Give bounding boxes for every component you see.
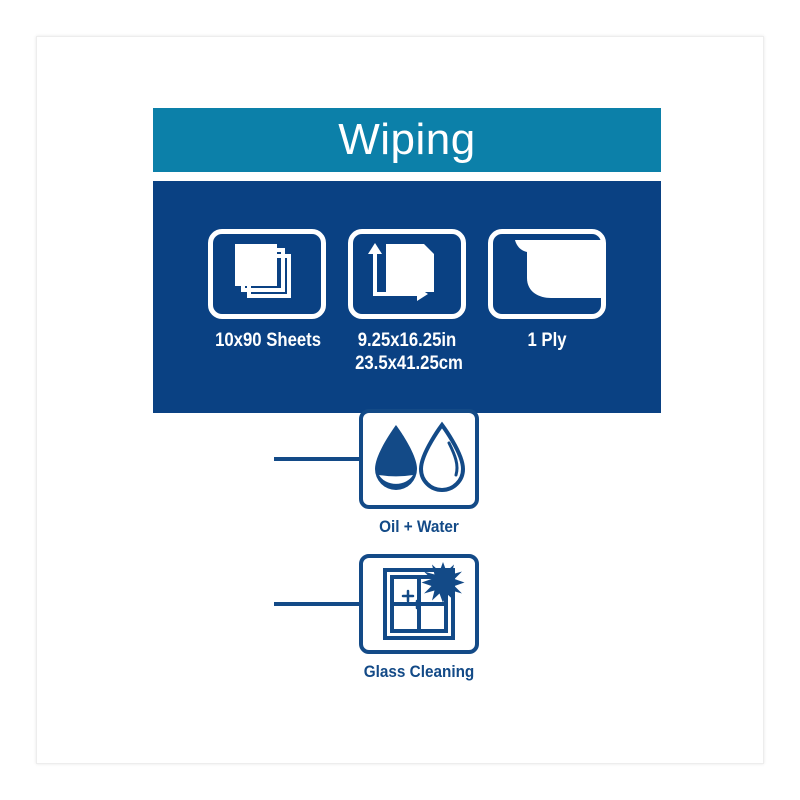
spec-icon-row bbox=[153, 229, 661, 321]
category-title-band: Wiping bbox=[153, 108, 661, 172]
connector-line-oil-water bbox=[274, 457, 364, 461]
page-title: Wiping bbox=[338, 118, 476, 162]
specification-panel: 10x90 Sheets 9.25x16.25in 23.5x41.25cm 1… bbox=[153, 181, 661, 413]
spec-icon-box-dimensions bbox=[348, 229, 466, 319]
spec-label-dimensions: 9.25x16.25in 23.5x41.25cm bbox=[355, 329, 459, 375]
spec-icon-box-sheets bbox=[208, 229, 326, 319]
feature-label-oil-water: Oil + Water bbox=[329, 517, 509, 537]
connector-line-glass-cleaning bbox=[274, 602, 364, 606]
stacked-sheets-icon bbox=[213, 234, 321, 314]
feature-label-glass-cleaning: Glass Cleaning bbox=[329, 662, 509, 682]
product-infographic-card: Wiping bbox=[36, 36, 764, 764]
spec-icon-box-ply bbox=[488, 229, 606, 319]
glass-cleaning-window-icon bbox=[363, 558, 475, 650]
feature-icon-box-glass-cleaning bbox=[359, 554, 479, 654]
spec-label-row: 10x90 Sheets 9.25x16.25in 23.5x41.25cm 1… bbox=[153, 329, 661, 375]
spec-label-sheets: 10x90 Sheets bbox=[215, 329, 319, 375]
spec-label-ply: 1 Ply bbox=[495, 329, 599, 375]
oil-water-droplets-icon bbox=[363, 413, 475, 505]
single-ply-sheet-icon bbox=[493, 234, 601, 314]
sheet-dimensions-icon bbox=[353, 234, 461, 314]
feature-icon-box-oil-water bbox=[359, 409, 479, 509]
